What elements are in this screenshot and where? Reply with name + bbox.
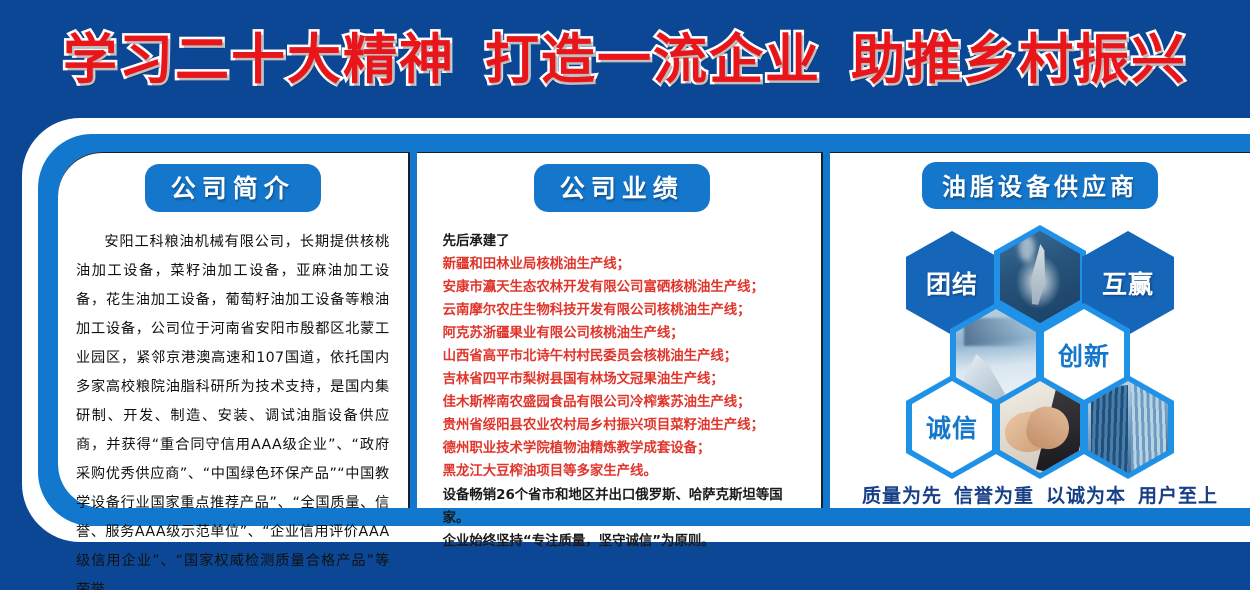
slogan-part: 以诚为本	[1046, 485, 1126, 507]
wake-shape	[1019, 235, 1035, 263]
headline-part-3: 助推乡村振兴	[851, 28, 1187, 91]
hex-label: 诚信	[926, 409, 978, 445]
achievement-item: 新疆和田林业局核桃油生产线；	[443, 253, 801, 276]
slogan-part: 用户至上	[1138, 485, 1218, 507]
achievement-item: 云南摩尔农庄生物科技开发有限公司核桃油生产线；	[443, 299, 801, 322]
panel-right-title-wrap: 油脂设备供应商	[844, 162, 1236, 209]
slogan-part: 信誉为重	[954, 485, 1034, 507]
panel-divider-2	[821, 152, 830, 508]
hex-inner	[1000, 381, 1080, 473]
achievement-footer: 企业始终坚持“专注质量，坚守诚信”为原则。	[443, 530, 801, 553]
achievement-item: 阿克苏浙疆果业有限公司核桃油生产线；	[443, 322, 801, 345]
aircraft-carrier-icon	[1000, 231, 1080, 323]
values-slogan: 质量为先信誉为重以诚为本用户至上	[844, 481, 1236, 508]
poster-header: 学习二十大精神打造一流企业助推乡村振兴	[0, 0, 1250, 108]
handshake-icon	[1000, 381, 1080, 473]
achievement-item: 贵州省绥阳县农业农村局乡村振兴项目菜籽油生产线；	[443, 414, 801, 437]
panel-left-title: 公司简介	[145, 164, 321, 212]
panel-divider-1	[408, 152, 417, 508]
achievement-item: 吉林省四平市梨树县国有林场文冠果油生产线；	[443, 368, 801, 391]
headline: 学习二十大精神打造一流企业助推乡村振兴	[63, 15, 1187, 94]
content-row: 公司简介 安阳工科粮油机械有限公司，长期提供核桃油加工设备，菜籽油加工设备，亚麻…	[58, 152, 1250, 508]
hex-inner	[1000, 231, 1080, 323]
achievement-lead: 先后承建了	[443, 230, 801, 253]
slogan-part: 质量为先	[862, 485, 942, 507]
achievement-item: 安康市瀛天生态农林开发有限公司富硒核桃油生产线；	[443, 276, 801, 299]
hex-label: 创新	[1058, 337, 1110, 373]
panel-mid-title-wrap: 公司业绩	[443, 164, 801, 212]
tower-shape-1	[1091, 385, 1128, 473]
headline-part-2: 打造一流企业	[485, 28, 821, 91]
panel-mid-title: 公司业绩	[534, 164, 710, 212]
panel-company-achievements: 公司业绩 先后承建了 新疆和田林业局核桃油生产线； 安康市瀛天生态农林开发有限公…	[417, 152, 821, 508]
hex-inner	[1088, 381, 1168, 473]
panel-company-intro: 公司简介 安阳工科粮油机械有限公司，长期提供核桃油加工设备，菜籽油加工设备，亚麻…	[58, 152, 408, 508]
robot-caption-shape	[964, 318, 1028, 346]
panel-supplier-values: 油脂设备供应商 团结	[830, 152, 1250, 508]
hex-label: 互赢	[1102, 265, 1154, 301]
headline-part-1: 学习二十大精神	[63, 28, 455, 91]
achievement-item: 黑龙江大豆榨油项目等多家生产线。	[443, 460, 801, 483]
hex-label: 团结	[926, 265, 978, 301]
achievement-item: 佳木斯桦南农盛园食品有限公司冷榨紫苏油生产线；	[443, 391, 801, 414]
hexagon-cluster: 团结 互赢	[844, 225, 1236, 475]
company-intro-text: 安阳工科粮油机械有限公司，长期提供核桃油加工设备，菜籽油加工设备，亚麻油加工设备…	[76, 228, 390, 590]
panel-left-title-wrap: 公司简介	[76, 164, 390, 212]
achievement-item: 山西省高平市北诗午村村民委员会核桃油生产线；	[443, 345, 801, 368]
achievement-item: 德州职业技术学院植物油精炼教学成套设备；	[443, 437, 801, 460]
achievement-list: 先后承建了 新疆和田林业局核桃油生产线； 安康市瀛天生态农林开发有限公司富硒核桃…	[443, 230, 801, 553]
skyscraper-icon	[1088, 381, 1168, 473]
panel-right-title: 油脂设备供应商	[922, 162, 1158, 209]
achievement-footer: 设备畅销26个省市和地区并出口俄罗斯、哈萨克斯坦等国家。	[443, 484, 801, 530]
poster-root: 学习二十大精神打造一流企业助推乡村振兴 公司简介 安阳工科粮油机械有限公司，长期…	[0, 0, 1250, 590]
tower-shape-2	[1131, 381, 1166, 473]
